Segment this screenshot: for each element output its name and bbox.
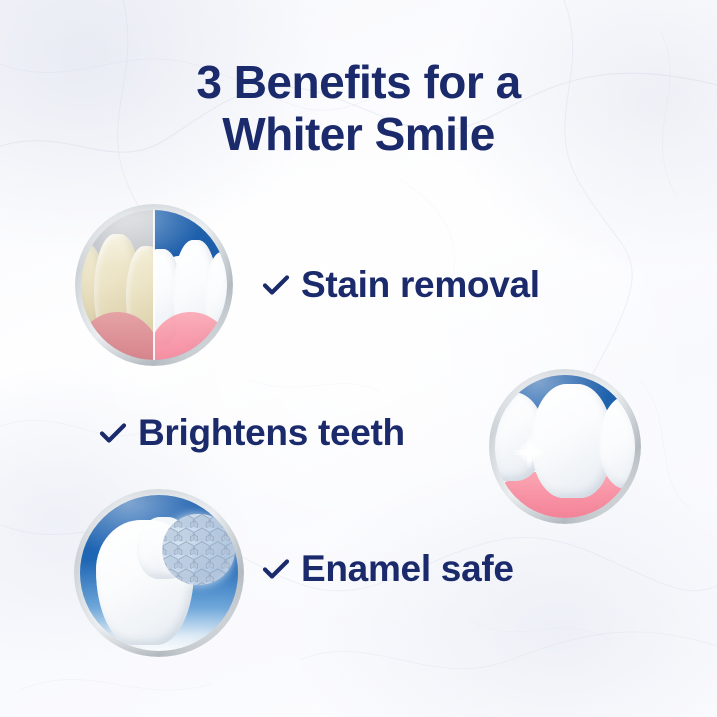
circle-inner bbox=[81, 210, 227, 360]
check-icon bbox=[261, 554, 291, 584]
before-half-stained bbox=[81, 210, 154, 360]
benefit-row-enamel-safe: Enamel safe bbox=[261, 548, 514, 590]
title-line-1: 3 Benefits for a bbox=[0, 57, 717, 109]
after-half-whitened bbox=[154, 210, 227, 360]
circle-inner bbox=[80, 495, 238, 651]
page-title: 3 Benefits for a Whiter Smile bbox=[0, 57, 717, 160]
benefit-image-enamel-safe bbox=[74, 489, 244, 657]
benefit-row-brightens-teeth: Brightens teeth bbox=[98, 412, 405, 454]
benefit-label: Stain removal bbox=[301, 264, 540, 306]
check-icon bbox=[261, 270, 291, 300]
benefit-label: Enamel safe bbox=[301, 548, 514, 590]
enamel-structure-magnifier-icon bbox=[162, 514, 235, 586]
split-divider bbox=[153, 210, 155, 360]
benefit-image-brightens-teeth bbox=[489, 369, 641, 524]
check-icon bbox=[98, 418, 128, 448]
benefit-label: Brightens teeth bbox=[138, 412, 405, 454]
benefit-image-stain-removal bbox=[75, 204, 233, 366]
circle-inner bbox=[495, 375, 635, 518]
title-line-2: Whiter Smile bbox=[0, 109, 717, 161]
benefits-poster: 3 Benefits for a Whiter Smile bbox=[0, 0, 717, 717]
benefit-row-stain-removal: Stain removal bbox=[261, 264, 540, 306]
